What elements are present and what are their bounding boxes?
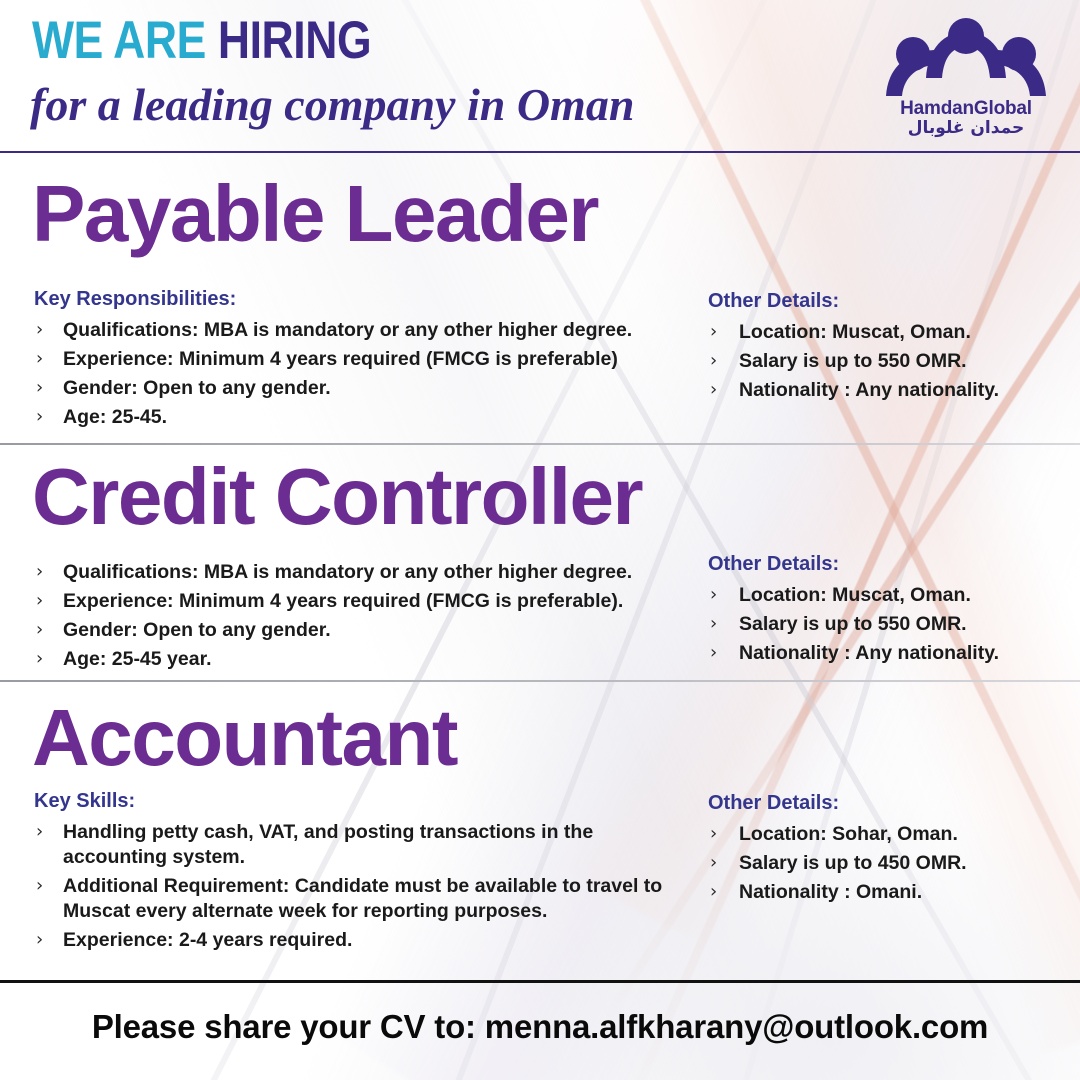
list-item-text: Nationality : Any nationality.: [739, 642, 999, 664]
footer-divider: [0, 980, 1080, 983]
list-item-text: Nationality : Omani.: [739, 881, 922, 903]
section-heading: Other Details:: [708, 290, 1068, 313]
list-item-text: Experience: Minimum 4 years required (FM…: [63, 348, 618, 370]
list-item-text: Gender: Open to any gender.: [63, 619, 331, 641]
chevron-right-icon: ›: [710, 583, 717, 606]
list-item: ›Qualifications: MBA is mandatory or any…: [34, 560, 694, 585]
list-item-text: Experience: 2-4 years required.: [63, 929, 352, 951]
list-item-text: Salary is up to 550 OMR.: [739, 350, 967, 372]
company-logo: HamdanGlobal حمدان غلوبال: [878, 14, 1054, 138]
poster-footer: Please share your CV to: menna.alfkharan…: [0, 1008, 1080, 1046]
chevron-right-icon: ›: [36, 589, 43, 612]
job-block-accountant: Accountant Key Skills: ›Handling petty c…: [0, 682, 1080, 980]
list-item: ›Qualifications: MBA is mandatory or any…: [34, 318, 694, 343]
list-item: ›Salary is up to 550 OMR.: [708, 612, 1068, 637]
chevron-right-icon: ›: [710, 320, 717, 343]
chevron-right-icon: ›: [36, 318, 43, 341]
list-item-text: Location: Muscat, Oman.: [739, 321, 971, 343]
list-item: ›Nationality : Omani.: [708, 880, 1068, 905]
chevron-right-icon: ›: [36, 820, 43, 843]
job-title: Credit Controller: [32, 457, 642, 537]
list-item: ›Location: Sohar, Oman.: [708, 822, 1068, 847]
chevron-right-icon: ›: [710, 641, 717, 664]
chevron-right-icon: ›: [36, 560, 43, 583]
chevron-right-icon: ›: [710, 880, 717, 903]
section-divider-1: [0, 443, 1080, 445]
list-item: ›Nationality : Any nationality.: [708, 641, 1068, 666]
section-heading: Key Skills:: [34, 790, 694, 813]
list-item-text: Location: Muscat, Oman.: [739, 584, 971, 606]
responsibility-list: ›Qualifications: MBA is mandatory or any…: [34, 560, 694, 672]
list-item-text: Qualifications: MBA is mandatory or any …: [63, 319, 632, 341]
section-heading: Key Responsibilities:: [34, 288, 694, 311]
chevron-right-icon: ›: [36, 376, 43, 399]
chevron-right-icon: ›: [36, 928, 43, 951]
section-divider-2: [0, 680, 1080, 682]
job-skills-column: Key Skills: ›Handling petty cash, VAT, a…: [34, 790, 694, 957]
section-heading: Other Details:: [708, 553, 1068, 576]
chevron-right-icon: ›: [36, 647, 43, 670]
list-item: ›Handling petty cash, VAT, and posting t…: [34, 820, 694, 870]
list-item-text: Location: Sohar, Oman.: [739, 823, 958, 845]
hiring-poster: WE ARE HIRING for a leading company in O…: [0, 0, 1080, 1080]
list-item: ›Gender: Open to any gender.: [34, 376, 694, 401]
logo-name-en: HamdanGlobal: [878, 99, 1054, 119]
list-item-text: Gender: Open to any gender.: [63, 377, 331, 399]
list-item: ›Location: Muscat, Oman.: [708, 583, 1068, 608]
skills-list: ›Handling petty cash, VAT, and posting t…: [34, 820, 694, 953]
chevron-right-icon: ›: [710, 349, 717, 372]
responsibility-list: ›Qualifications: MBA is mandatory or any…: [34, 318, 694, 430]
chevron-right-icon: ›: [36, 874, 43, 897]
list-item-text: Salary is up to 550 OMR.: [739, 613, 967, 635]
list-item: ›Nationality : Any nationality.: [708, 378, 1068, 403]
other-details-list: ›Location: Sohar, Oman. ›Salary is up to…: [708, 822, 1068, 905]
job-responsibilities-column: Key Responsibilities: ›Qualifications: M…: [34, 288, 694, 434]
list-item: ›Gender: Open to any gender.: [34, 618, 694, 643]
list-item-text: Age: 25-45.: [63, 406, 167, 428]
list-item: ›Experience: Minimum 4 years required (F…: [34, 347, 694, 372]
list-item: ›Age: 25-45 year.: [34, 647, 694, 672]
three-people-icon: [882, 14, 1050, 98]
chevron-right-icon: ›: [710, 612, 717, 635]
headline: WE ARE HIRING: [32, 14, 371, 67]
section-heading: Other Details:: [708, 792, 1068, 815]
list-item-text: Age: 25-45 year.: [63, 648, 212, 670]
headline-we-are: WE ARE: [32, 11, 218, 70]
list-item-text: Experience: Minimum 4 years required (FM…: [63, 590, 623, 612]
list-item-text: Nationality : Any nationality.: [739, 379, 999, 401]
job-other-details-column: Other Details: ›Location: Muscat, Oman. …: [708, 553, 1068, 670]
list-item: ›Experience: 2-4 years required.: [34, 928, 694, 953]
chevron-right-icon: ›: [36, 347, 43, 370]
chevron-right-icon: ›: [710, 378, 717, 401]
poster-header: WE ARE HIRING for a leading company in O…: [0, 0, 1080, 152]
chevron-right-icon: ›: [36, 618, 43, 641]
chevron-right-icon: ›: [710, 822, 717, 845]
list-item-text: Salary is up to 450 OMR.: [739, 852, 967, 874]
list-item-text: Qualifications: MBA is mandatory or any …: [63, 561, 632, 583]
chevron-right-icon: ›: [36, 405, 43, 428]
list-item: ›Salary is up to 450 OMR.: [708, 851, 1068, 876]
other-details-list: ›Location: Muscat, Oman. ›Salary is up t…: [708, 583, 1068, 666]
list-item: ›Experience: Minimum 4 years required (F…: [34, 589, 694, 614]
other-details-list: ›Location: Muscat, Oman. ›Salary is up t…: [708, 320, 1068, 403]
job-other-details-column: Other Details: ›Location: Sohar, Oman. ›…: [708, 792, 1068, 909]
headline-hiring: HIRING: [218, 11, 371, 70]
list-item: ›Additional Requirement: Candidate must …: [34, 874, 694, 924]
job-responsibilities-column: ›Qualifications: MBA is mandatory or any…: [34, 560, 694, 676]
list-item: ›Location: Muscat, Oman.: [708, 320, 1068, 345]
list-item: ›Salary is up to 550 OMR.: [708, 349, 1068, 374]
job-title: Accountant: [32, 698, 457, 778]
header-divider: [0, 151, 1080, 153]
list-item: ›Age: 25-45.: [34, 405, 694, 430]
job-title: Payable Leader: [32, 174, 598, 254]
job-block-credit-controller: Credit Controller ›Qualifications: MBA i…: [0, 445, 1080, 680]
list-item-text: Handling petty cash, VAT, and posting tr…: [63, 821, 593, 868]
job-other-details-column: Other Details: ›Location: Muscat, Oman. …: [708, 290, 1068, 407]
chevron-right-icon: ›: [710, 851, 717, 874]
job-block-payable-leader: Payable Leader Key Responsibilities: ›Qu…: [0, 152, 1080, 440]
headline-subtitle: for a leading company in Oman: [30, 82, 634, 128]
cv-submission-cta: Please share your CV to: menna.alfkharan…: [0, 1008, 1080, 1046]
list-item-text: Additional Requirement: Candidate must b…: [63, 875, 662, 922]
logo-name-ar: حمدان غلوبال: [878, 119, 1054, 139]
